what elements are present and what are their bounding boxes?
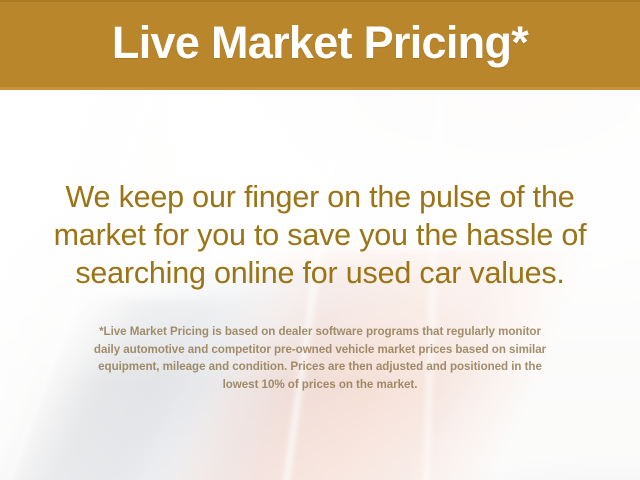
content-area: We keep our finger on the pulse of the m… [0, 90, 640, 480]
page-title: Live Market Pricing* [112, 20, 528, 69]
disclaimer-line-4: lowest 10% of prices on the market. [62, 376, 578, 394]
live-market-pricing-slide: Live Market Pricing* We keep our finger … [0, 0, 640, 480]
headline-block: We keep our finger on the pulse of the m… [22, 90, 618, 292]
header-banner: Live Market Pricing* [0, 0, 640, 90]
headline-line-2: market for you to save you the hassle of [22, 216, 618, 254]
disclaimer-line-2: daily automotive and competitor pre-owne… [62, 341, 578, 359]
disclaimer-line-1: *Live Market Pricing is based on dealer … [62, 323, 578, 341]
disclaimer-block: *Live Market Pricing is based on dealer … [22, 292, 618, 393]
disclaimer-line-3: equipment, mileage and condition. Prices… [62, 358, 578, 376]
headline-line-1: We keep our finger on the pulse of the [22, 178, 618, 216]
headline-line-3: searching online for used car values. [22, 254, 618, 292]
